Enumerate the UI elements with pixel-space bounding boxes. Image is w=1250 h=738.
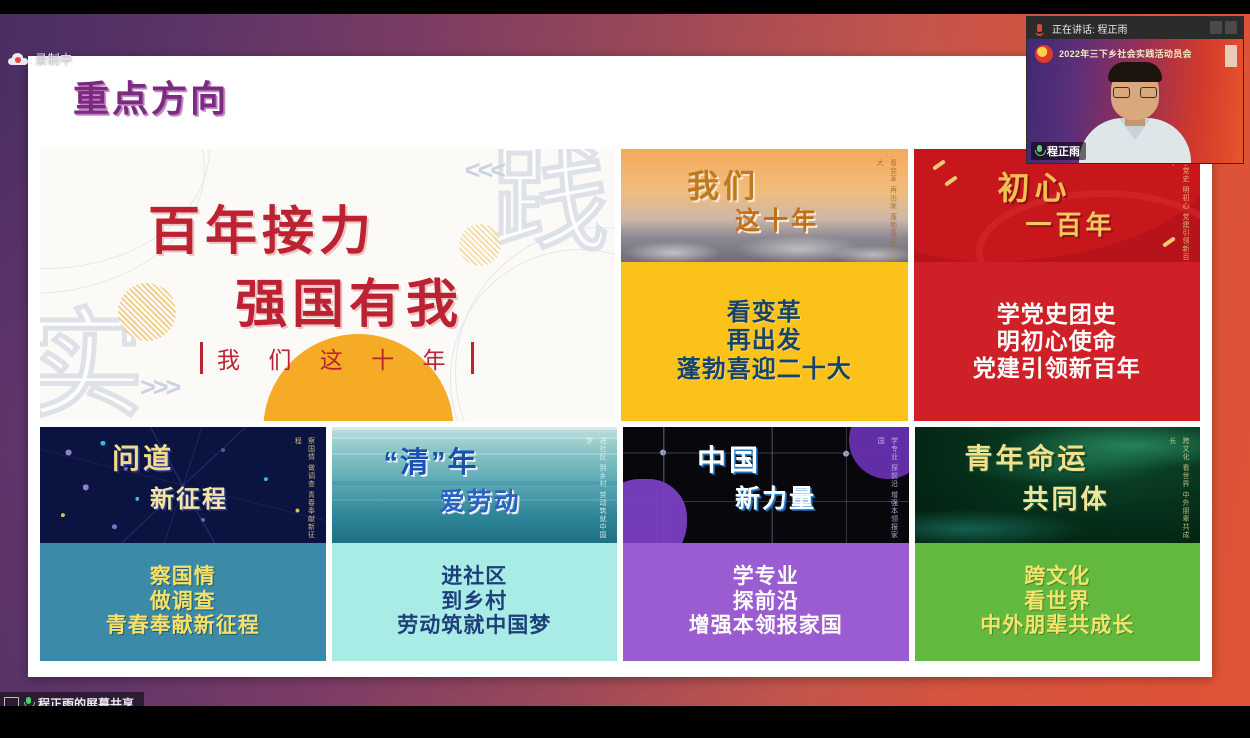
card-head-line-2: 一百年 (1026, 205, 1116, 242)
card-body-line: 蓬勃喜迎二十大 (677, 356, 852, 384)
card-header: 我们 这十年 看变革 再出发 蓬勃喜迎二十大 (621, 149, 908, 262)
recording-indicator: 录制中 (8, 50, 73, 67)
video-feed[interactable]: 2022年三下乡社会实践活动员会 程正雨 (1027, 39, 1243, 164)
slide-row-top: 践 实 <<< >>> 百年接力 强国有我 我 们 这 十 年 (40, 149, 1200, 421)
ghost-char-practice-icon: 践 (491, 149, 609, 259)
banner-side-panel-icon (1225, 45, 1237, 67)
hero-banner: 践 实 <<< >>> 百年接力 强国有我 我 们 这 十 年 (40, 149, 615, 421)
participant-video-avatar (1079, 66, 1191, 164)
striped-circle-small-icon (459, 224, 501, 266)
pip-titlebar[interactable]: 正在讲话: 程正雨 (1027, 17, 1243, 39)
card-body-line: 再出发 (727, 327, 802, 355)
hero-line-1: 百年接力 (148, 189, 376, 264)
card-head-line-1: 问道 (112, 437, 174, 477)
participant-name-badge: 程正雨 (1031, 142, 1086, 160)
card-original-aspiration[interactable]: 初心 一百年 学党史 明初心 党建引领新百年 学党史团史 明初心使命 党建引领新… (914, 149, 1201, 421)
meeting-screen-share-view: 录制中 重点方向 践 实 <<< >>> 百年接力 强国有我 (0, 0, 1250, 738)
card-head-line-1: 中国 (697, 437, 761, 479)
card-side-text: 跨文化 看世界 中外朋辈共成长 (1165, 437, 1192, 543)
card-body-line: 做调查 (150, 590, 216, 615)
card-side-text: 察国情 做调查 青春奉献新征程 (291, 437, 318, 543)
card-header: 问道 新征程 察国情 做调查 青春奉献新征程 (40, 427, 326, 543)
cloud-record-icon (8, 53, 28, 65)
card-head-line-2: 共同体 (1023, 479, 1110, 516)
bottom-black-bar (0, 706, 1250, 738)
card-body-line: 中外朋辈共成长 (980, 614, 1134, 639)
glasses-icon (1113, 87, 1157, 98)
card-china-new-power[interactable]: 中国 新力量 学专业 探前沿 增强本领报家国 学专业 探前沿 增强本领报家国 (623, 427, 909, 661)
pip-window-controls[interactable] (1210, 21, 1237, 34)
minimize-icon (1210, 21, 1222, 34)
card-body-line: 跨文化 (1024, 565, 1090, 590)
card-body: 学党史团史 明初心使命 党建引领新百年 (914, 262, 1201, 421)
card-head-line-2: 爱劳动 (440, 482, 521, 518)
card-body-line: 增强本领报家国 (689, 614, 843, 639)
hero-subtitle-text: 我 们 这 十 年 (217, 341, 457, 375)
card-side-text: 学专业 探前沿 增强本领报家国 (874, 437, 901, 543)
video-pip-panel[interactable]: 正在讲话: 程正雨 2022年三下乡社会实践活动员会 程正雨 (1026, 16, 1244, 164)
card-body-line: 探前沿 (733, 590, 799, 615)
maximize-icon (1225, 21, 1237, 34)
card-header: 中国 新力量 学专业 探前沿 增强本领报家国 (623, 427, 909, 543)
card-new-journey[interactable]: 问道 新征程 察国情 做调查 青春奉献新征程 察国情 做调查 青春奉献新征程 (40, 427, 326, 661)
card-body-line: 青春奉献新征程 (106, 614, 260, 639)
card-head-line-1: “清”年 (384, 439, 479, 481)
microphone-icon (1034, 145, 1044, 157)
card-side-text: 学党史 明初心 党建引领新百年 (1165, 159, 1192, 262)
card-ten-years[interactable]: 我们 这十年 看变革 再出发 蓬勃喜迎二十大 看变革 再出发 蓬勃喜迎二十大 (621, 149, 908, 421)
card-body-line: 察国情 (150, 565, 216, 590)
active-speaker-label: 正在讲话: 程正雨 (1052, 21, 1128, 36)
slide-row-bottom: 问道 新征程 察国情 做调查 青春奉献新征程 察国情 做调查 青春奉献新征程 “… (40, 427, 1200, 661)
card-body: 进社区 到乡村 劳动筑就中国梦 (332, 543, 618, 661)
slide-board: 践 实 <<< >>> 百年接力 强国有我 我 们 这 十 年 (40, 149, 1200, 661)
page-title: 重点方向 (73, 70, 229, 122)
card-body: 学专业 探前沿 增强本领报家国 (623, 543, 909, 661)
card-body-line: 明初心使命 (997, 328, 1117, 355)
youth-league-emblem-icon (1035, 45, 1053, 63)
participant-name: 程正雨 (1047, 143, 1080, 159)
card-youth-community[interactable]: 青年命运 共同体 跨文化 看世界 中外朋辈共成长 跨文化 看世界 中外朋辈共成长 (915, 427, 1201, 661)
card-love-labor[interactable]: “清”年 爱劳动 进社区 到乡村 劳动筑就中国梦 进社区 到乡村 劳动筑就中国梦 (332, 427, 618, 661)
card-body: 跨文化 看世界 中外朋辈共成长 (915, 543, 1201, 661)
virtual-background-text: 2022年三下乡社会实践活动员会 (1059, 47, 1192, 60)
striped-circle-icon (118, 283, 176, 341)
card-head-line-2: 这十年 (735, 201, 819, 237)
speaker-icon (1035, 23, 1046, 34)
card-head-line-2: 新征程 (150, 479, 228, 514)
card-body-line: 看世界 (1024, 590, 1090, 615)
top-black-bar (0, 0, 1250, 14)
card-body-line: 进社区 (441, 565, 507, 590)
card-side-text: 看变革 再出发 蓬勃喜迎二十大 (873, 159, 900, 262)
card-body: 察国情 做调查 青春奉献新征程 (40, 543, 326, 661)
card-head-line-2: 新力量 (735, 479, 816, 515)
card-body-line: 到乡村 (441, 590, 507, 615)
hero-line-2: 强国有我 (235, 262, 463, 337)
chevron-right-icon: >>> (140, 372, 178, 403)
card-side-text: 进社区 到乡村 劳动筑就中国梦 (582, 437, 609, 543)
recording-label: 录制中 (35, 50, 73, 67)
card-body: 看变革 再出发 蓬勃喜迎二十大 (621, 262, 908, 421)
card-header: 青年命运 共同体 跨文化 看世界 中外朋辈共成长 (915, 427, 1201, 543)
card-head-line-1: 青年命运 (965, 437, 1089, 477)
chevron-left-icon: <<< (465, 155, 503, 186)
card-body-line: 党建引领新百年 (973, 355, 1141, 382)
card-head-line-1: 初心 (998, 163, 1072, 209)
card-body-line: 学专业 (733, 565, 799, 590)
card-body-line: 看变革 (727, 299, 802, 327)
card-body-line: 学党史团史 (997, 301, 1117, 328)
card-header: 初心 一百年 学党史 明初心 党建引领新百年 (914, 149, 1201, 262)
card-body-line: 劳动筑就中国梦 (397, 614, 551, 639)
hero-subtitle: 我 们 这 十 年 (200, 341, 474, 375)
card-header: “清”年 爱劳动 进社区 到乡村 劳动筑就中国梦 (332, 427, 618, 543)
